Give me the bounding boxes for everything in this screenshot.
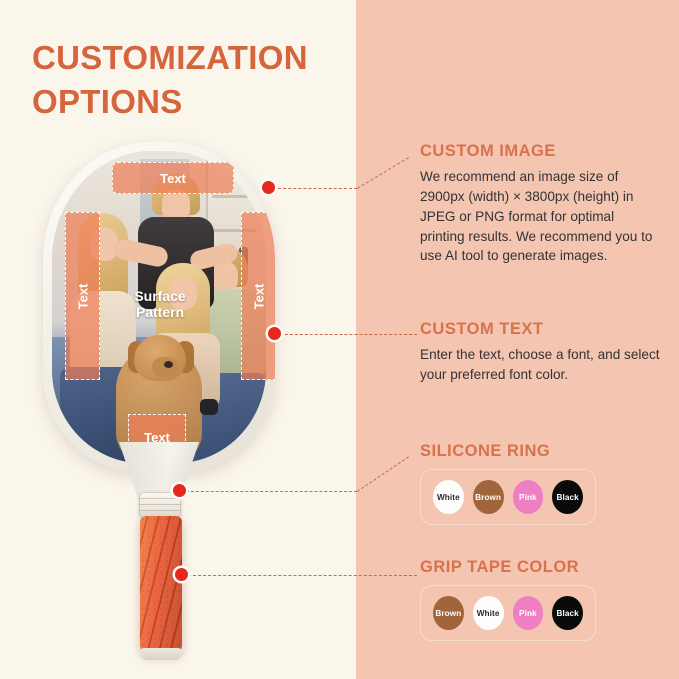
swatch-label: Brown bbox=[475, 493, 501, 502]
paddle-face: Text Text Text Text Surface Pattern bbox=[43, 142, 275, 472]
marker-dot-grip-tape[interactable] bbox=[175, 568, 188, 581]
swatch-grip-brown[interactable]: Brown bbox=[433, 596, 464, 630]
surface-pattern-line-1: Surface bbox=[113, 288, 207, 304]
surface-pattern-label: Surface Pattern bbox=[113, 288, 207, 320]
swatch-silicone-black[interactable]: Black bbox=[552, 480, 583, 514]
paddle-butt-cap bbox=[140, 648, 182, 660]
connector-line-grip-tape bbox=[188, 575, 417, 576]
swatch-label: Pink bbox=[519, 609, 537, 618]
swatch-silicone-white[interactable]: White bbox=[433, 480, 464, 514]
text-zone-right[interactable]: Text bbox=[241, 212, 275, 380]
section-custom-text-heading: CUSTOM TEXT bbox=[420, 320, 660, 339]
swatch-grip-white[interactable]: White bbox=[473, 596, 504, 630]
swatch-silicone-pink[interactable]: Pink bbox=[513, 480, 544, 514]
swatch-label: White bbox=[477, 609, 500, 618]
page-title: CUSTOMIZATION OPTIONS bbox=[32, 36, 342, 124]
swatch-grip-black[interactable]: Black bbox=[552, 596, 583, 630]
marker-dot-custom-image[interactable] bbox=[262, 181, 275, 194]
ring-groove bbox=[139, 504, 181, 505]
swatch-silicone-brown[interactable]: Brown bbox=[473, 480, 504, 514]
marker-dot-silicone-ring[interactable] bbox=[173, 484, 186, 497]
infographic-page: CUSTOMIZATION OPTIONS bbox=[0, 0, 679, 679]
section-grip-tape-heading: GRIP TAPE COLOR bbox=[420, 558, 660, 577]
marker-dot-custom-text[interactable] bbox=[268, 327, 281, 340]
grip-perforations bbox=[140, 516, 182, 654]
swatch-grip-pink[interactable]: Pink bbox=[513, 596, 544, 630]
text-zone-left[interactable]: Text bbox=[65, 212, 100, 380]
section-custom-text-body: Enter the text, choose a font, and selec… bbox=[420, 345, 660, 385]
grip-tape bbox=[140, 516, 182, 654]
grip-tape-swatch-group: Brown White Pink Black bbox=[420, 585, 596, 641]
connector-line-custom-text bbox=[280, 334, 417, 335]
text-zone-top-label: Text bbox=[160, 171, 186, 186]
swatch-label: Black bbox=[556, 493, 578, 502]
section-custom-image-body: We recommend an image size of 2900px (wi… bbox=[420, 167, 660, 266]
text-zone-right-label: Text bbox=[251, 283, 266, 309]
swatch-label: White bbox=[437, 493, 460, 502]
silicone-ring bbox=[139, 492, 181, 518]
pickleball-paddle-illustration: Text Text Text Text Surface Pattern bbox=[43, 142, 275, 642]
section-custom-image: CUSTOM IMAGE We recommend an image size … bbox=[420, 142, 660, 266]
section-silicone-ring-heading: SILICONE RING bbox=[420, 442, 660, 461]
swatch-label: Black bbox=[556, 609, 578, 618]
ring-groove bbox=[139, 498, 181, 499]
text-zone-left-label: Text bbox=[75, 283, 90, 309]
section-grip-tape-color: GRIP TAPE COLOR Brown White Pink Black bbox=[420, 558, 660, 641]
swatch-label: Pink bbox=[519, 493, 537, 502]
connector-line-silicone-ring bbox=[186, 491, 357, 492]
section-custom-image-heading: CUSTOM IMAGE bbox=[420, 142, 660, 161]
text-zone-top[interactable]: Text bbox=[112, 162, 234, 194]
ring-groove bbox=[139, 510, 181, 511]
swatch-label: Brown bbox=[435, 609, 461, 618]
connector-line-custom-image bbox=[273, 188, 357, 189]
section-custom-text: CUSTOM TEXT Enter the text, choose a fon… bbox=[420, 320, 660, 385]
surface-pattern-line-2: Pattern bbox=[113, 304, 207, 320]
silicone-ring-swatch-group: White Brown Pink Black bbox=[420, 469, 596, 525]
section-silicone-ring: SILICONE RING White Brown Pink Black bbox=[420, 442, 660, 525]
